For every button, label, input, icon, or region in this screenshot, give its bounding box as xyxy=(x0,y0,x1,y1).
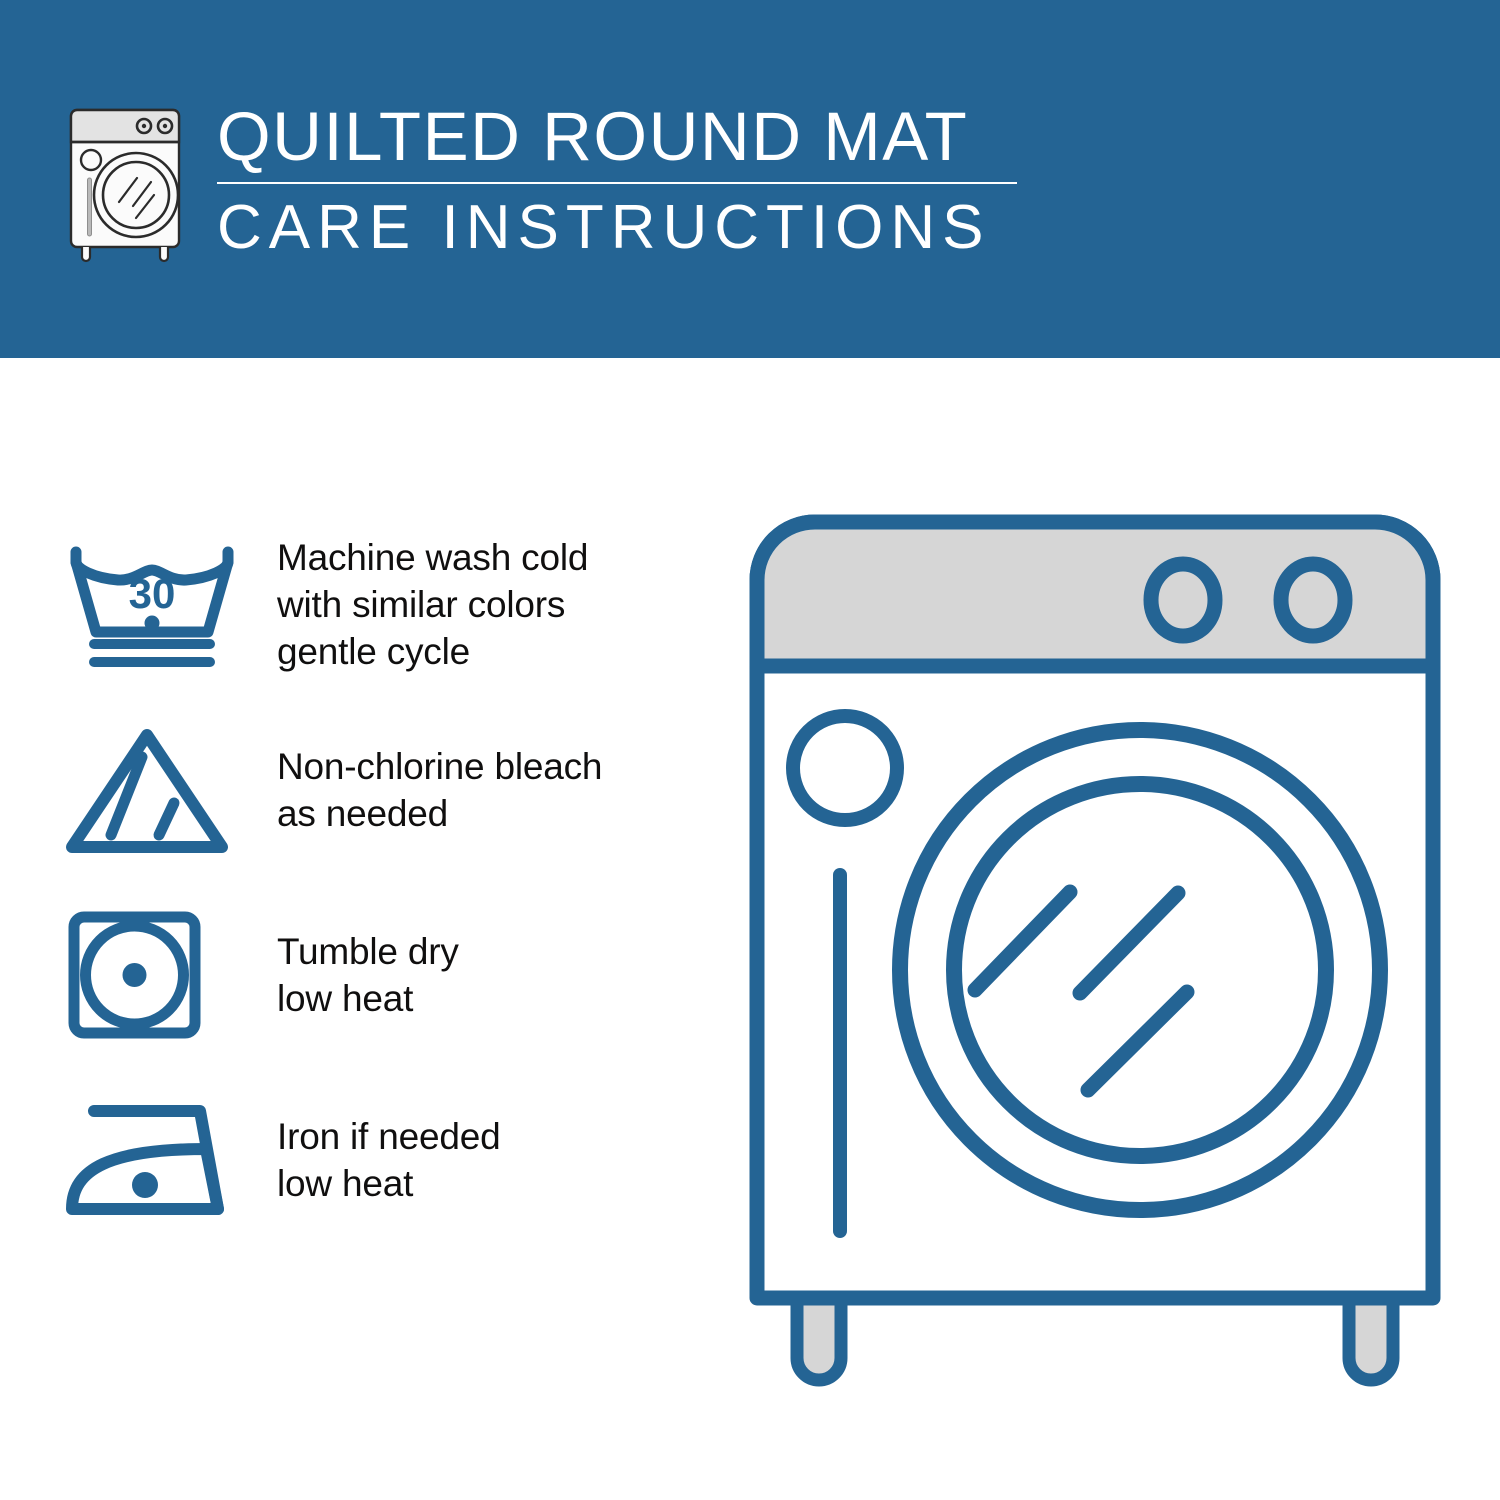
list-item-label: Machine wash cold with similar colors ge… xyxy=(277,534,588,675)
side-handle-bar[interactable] xyxy=(833,868,847,1238)
list-item: Iron if needed low heat xyxy=(62,1067,722,1252)
header-band: QUILTED ROUND MAT CARE INSTRUCTIONS xyxy=(0,0,1500,358)
list-item-label: Iron if needed low heat xyxy=(277,1113,500,1207)
knob-left[interactable] xyxy=(1151,564,1215,636)
list-item-label: Non-chlorine bleach as needed xyxy=(277,743,602,837)
header-content: QUILTED ROUND MAT CARE INSTRUCTIONS xyxy=(55,98,1017,264)
list-item: 30 Machine wash cold with similar colors… xyxy=(62,512,722,697)
header-titles: QUILTED ROUND MAT CARE INSTRUCTIONS xyxy=(217,98,1017,264)
tumble-dry-low-heat-icon xyxy=(62,895,277,1055)
title-divider xyxy=(217,182,1017,184)
care-instruction-list: 30 Machine wash cold with similar colors… xyxy=(62,512,722,1252)
wash-temperature-label: 30 xyxy=(129,570,176,617)
page-subtitle: CARE INSTRUCTIONS xyxy=(217,192,1017,264)
washing-machine-icon xyxy=(55,98,195,263)
knob-right[interactable] xyxy=(1281,564,1345,636)
page-title: QUILTED ROUND MAT xyxy=(217,98,1017,176)
wash-tub-30-gentle-icon: 30 xyxy=(62,525,277,685)
washing-machine-illustration xyxy=(735,500,1455,1420)
list-item: Tumble dry low heat xyxy=(62,882,722,1067)
non-chlorine-bleach-triangle-icon xyxy=(62,710,277,870)
iron-low-heat-icon xyxy=(62,1080,277,1240)
list-item-label: Tumble dry low heat xyxy=(277,928,459,1022)
list-item: Non-chlorine bleach as needed xyxy=(62,697,722,882)
